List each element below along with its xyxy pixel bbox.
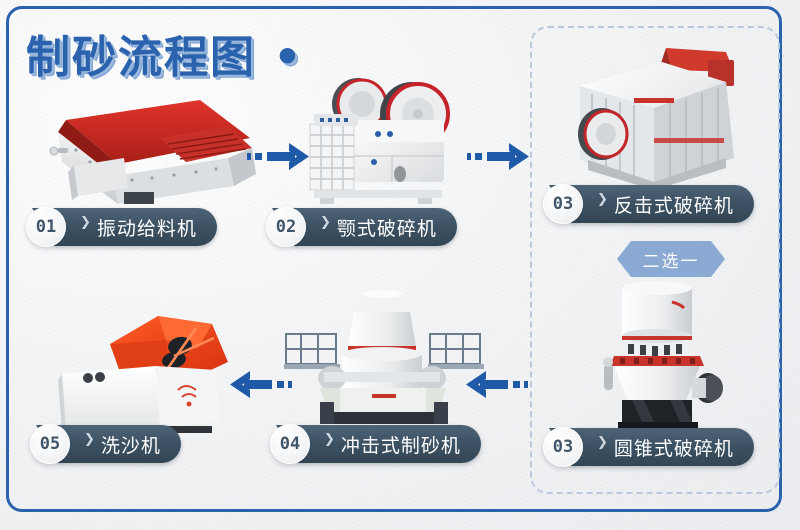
- stage-pill-01[interactable]: ❯ 振动给料机: [54, 208, 217, 246]
- stage-number-03-cone: 03: [543, 427, 583, 467]
- machine-vibrating-feeder: [28, 92, 258, 212]
- machine-sand-washer: [48, 298, 248, 433]
- stage-pill-03-cone[interactable]: ❯ 圆锥式破碎机: [571, 428, 754, 466]
- stage-number-04: 04: [270, 424, 310, 464]
- stage-label-text-04: 冲击式制砂机: [341, 431, 461, 458]
- arrow-cone-to-sandmaker: [464, 368, 528, 407]
- two-choose-one-label: 二选一: [643, 247, 700, 272]
- chevron-right-icon: ❯: [320, 214, 331, 230]
- arrow-feeder-to-jaw: [247, 140, 311, 179]
- stage-number-02: 02: [266, 207, 306, 247]
- stage-number-05: 05: [30, 424, 70, 464]
- chevron-right-icon: ❯: [597, 434, 608, 450]
- chevron-right-icon: ❯: [84, 431, 95, 447]
- stage-pill-05[interactable]: ❯ 洗沙机: [58, 425, 181, 463]
- flowchart-canvas: 制砂流程图 •: [0, 0, 800, 530]
- page-title: 制砂流程图 •: [26, 21, 303, 85]
- stage-label-05[interactable]: 05 ❯ 洗沙机: [30, 424, 181, 464]
- stage-label-03-cone[interactable]: 03 ❯ 圆锥式破碎机: [543, 427, 754, 467]
- chevron-right-icon: ❯: [80, 214, 91, 230]
- stage-pill-03-impact[interactable]: ❯ 反击式破碎机: [571, 185, 754, 223]
- machine-vsi-sand-maker: [280, 290, 490, 430]
- stage-label-02[interactable]: 02 ❯ 颚式破碎机: [266, 207, 457, 247]
- stage-pill-04[interactable]: ❯ 冲击式制砂机: [298, 425, 481, 463]
- stage-label-text-02: 颚式破碎机: [337, 214, 437, 241]
- stage-number-03-impact: 03: [543, 184, 583, 224]
- stage-label-04[interactable]: 04 ❯ 冲击式制砂机: [270, 424, 481, 464]
- stage-label-text-03-cone: 圆锥式破碎机: [614, 434, 734, 461]
- stage-label-text-03-impact: 反击式破碎机: [614, 191, 734, 218]
- machine-impact-crusher: [558, 42, 748, 192]
- chevron-right-icon: ❯: [324, 431, 335, 447]
- stage-label-text-05: 洗沙机: [101, 431, 161, 458]
- machine-jaw-crusher: [300, 62, 470, 212]
- chevron-right-icon: ❯: [597, 191, 608, 207]
- stage-label-text-01: 振动给料机: [97, 214, 197, 241]
- machine-cone-crusher: [580, 280, 740, 430]
- two-choose-one-badge: 二选一: [617, 241, 725, 277]
- arrow-sandmaker-to-washer: [228, 368, 292, 407]
- stage-label-03-impact[interactable]: 03 ❯ 反击式破碎机: [543, 184, 754, 224]
- stage-pill-02[interactable]: ❯ 颚式破碎机: [294, 208, 457, 246]
- arrow-jaw-to-impact: [467, 140, 531, 179]
- stage-number-01: 01: [26, 207, 66, 247]
- stage-label-01[interactable]: 01 ❯ 振动给料机: [26, 207, 217, 247]
